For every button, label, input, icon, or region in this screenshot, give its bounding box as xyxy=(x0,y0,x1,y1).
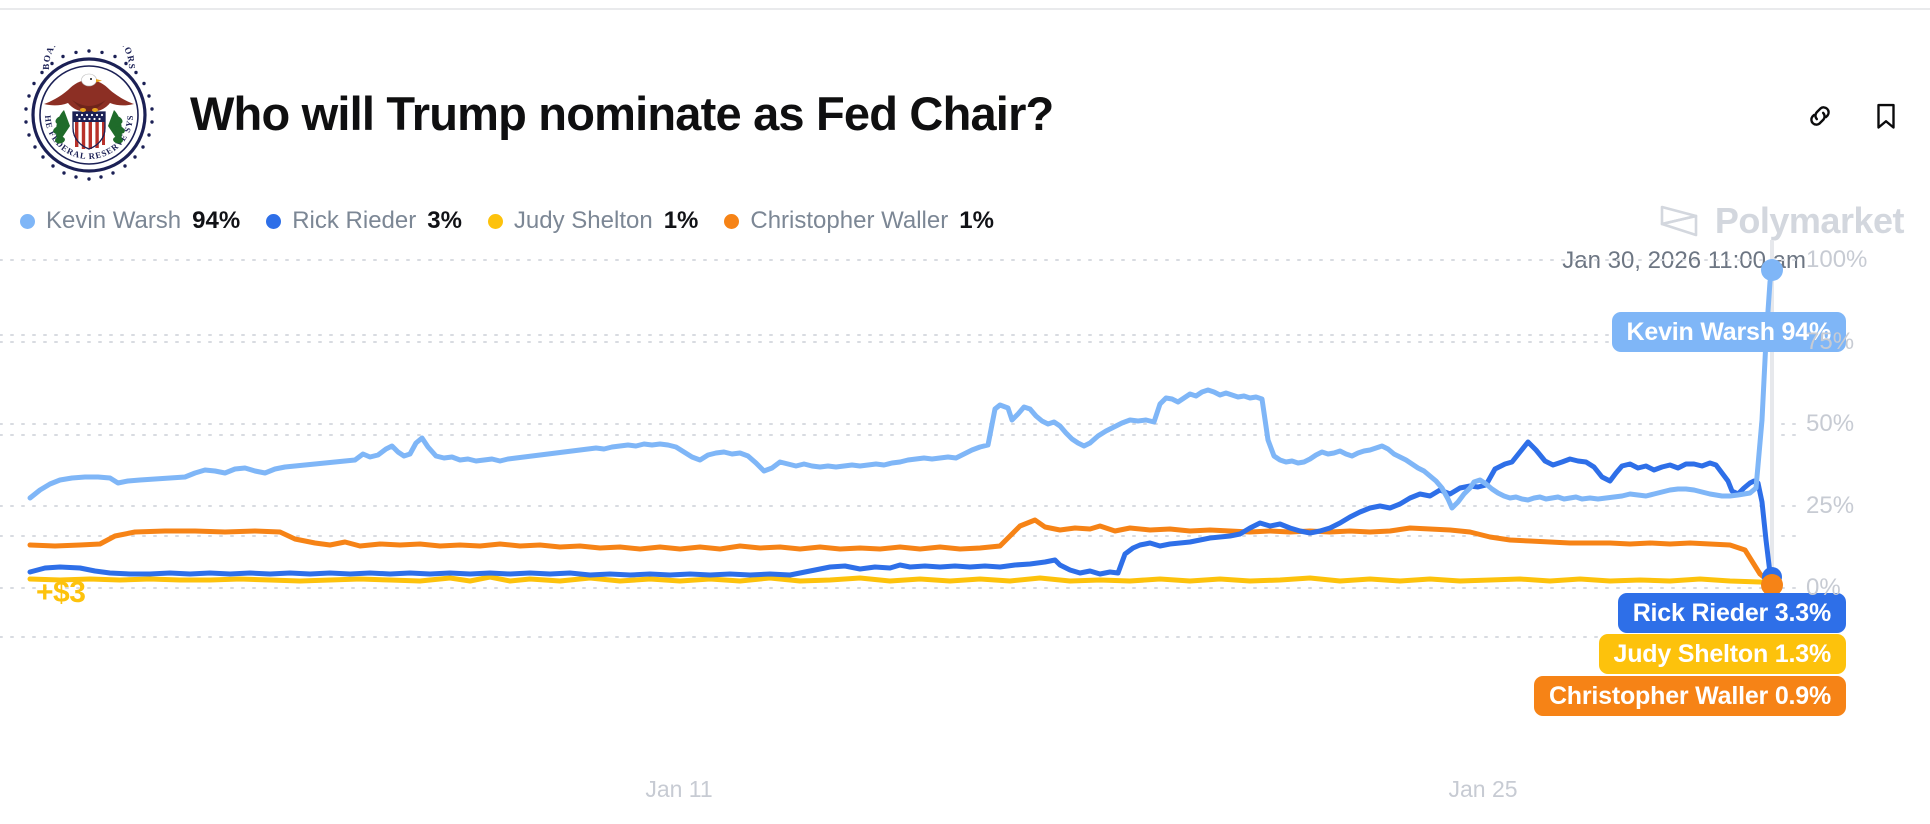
y-tick-label: 75% xyxy=(1806,328,1854,356)
y-tick-label: 50% xyxy=(1806,410,1854,438)
x-axis: Jan 11 Jan 25 xyxy=(0,776,1930,816)
legend-dot-icon xyxy=(488,214,503,229)
legend-item-rick-rieder[interactable]: Rick Rieder 3% xyxy=(266,207,462,235)
y-tick-label: 25% xyxy=(1806,492,1854,520)
y-axis: 100% 75% 50% 25% 0% xyxy=(1806,240,1916,824)
y-tick-label: 100% xyxy=(1806,246,1867,274)
endpoint-dot-kevin-warsh xyxy=(1761,259,1783,281)
legend-label: Rick Rieder xyxy=(292,207,416,235)
legend-dot-icon xyxy=(724,214,739,229)
series-line-judy-shelton xyxy=(30,577,1772,583)
legend-value: 1% xyxy=(664,207,699,235)
price-history-chart[interactable]: Jan 30, 2026 11:00 am xyxy=(0,240,1930,824)
page-title: Who will Trump nominate as Fed Chair? xyxy=(190,86,1053,141)
legend-label: Kevin Warsh xyxy=(46,207,181,235)
legend-label: Judy Shelton xyxy=(514,207,653,235)
polymarket-market-page: BOARD OF GOVERNORS OF THE FEDERAL RESERV… xyxy=(0,0,1930,824)
polymarket-watermark: Polymarket xyxy=(1659,200,1904,242)
grid-lines-lower xyxy=(0,335,1800,637)
legend-value: 94% xyxy=(192,207,240,235)
legend-label: Christopher Waller xyxy=(750,207,948,235)
x-tick-label: Jan 25 xyxy=(1448,776,1517,803)
legend-value: 3% xyxy=(427,207,462,235)
tooltip-christopher-waller: Christopher Waller 0.9% xyxy=(1534,676,1846,716)
legend-item-kevin-warsh[interactable]: Kevin Warsh 94% xyxy=(20,207,240,235)
top-divider xyxy=(0,8,1930,10)
header-actions xyxy=(1802,98,1904,134)
gain-annotation: +$3 xyxy=(36,576,85,610)
legend-value: 1% xyxy=(959,207,994,235)
y-tick-label: 0% xyxy=(1806,574,1841,602)
market-header: BOARD OF GOVERNORS OF THE FEDERAL RESERV… xyxy=(0,36,1930,156)
x-tick-label: Jan 11 xyxy=(645,776,712,803)
legend-dot-icon xyxy=(20,214,35,229)
series-line-kevin-warsh xyxy=(30,270,1772,508)
federal-reserve-seal-icon: BOARD OF GOVERNORS OF THE FEDERAL RESERV… xyxy=(20,46,158,184)
legend-item-judy-shelton[interactable]: Judy Shelton 1% xyxy=(488,207,698,235)
legend-item-christopher-waller[interactable]: Christopher Waller 1% xyxy=(724,207,994,235)
polymarket-logo-icon xyxy=(1659,204,1699,238)
bookmark-icon[interactable] xyxy=(1868,98,1904,134)
copy-link-icon[interactable] xyxy=(1802,98,1838,134)
legend-dot-icon xyxy=(266,214,281,229)
series-legend: Kevin Warsh 94% Rick Rieder 3% Judy Shel… xyxy=(20,207,994,235)
polymarket-wordmark: Polymarket xyxy=(1715,200,1904,242)
